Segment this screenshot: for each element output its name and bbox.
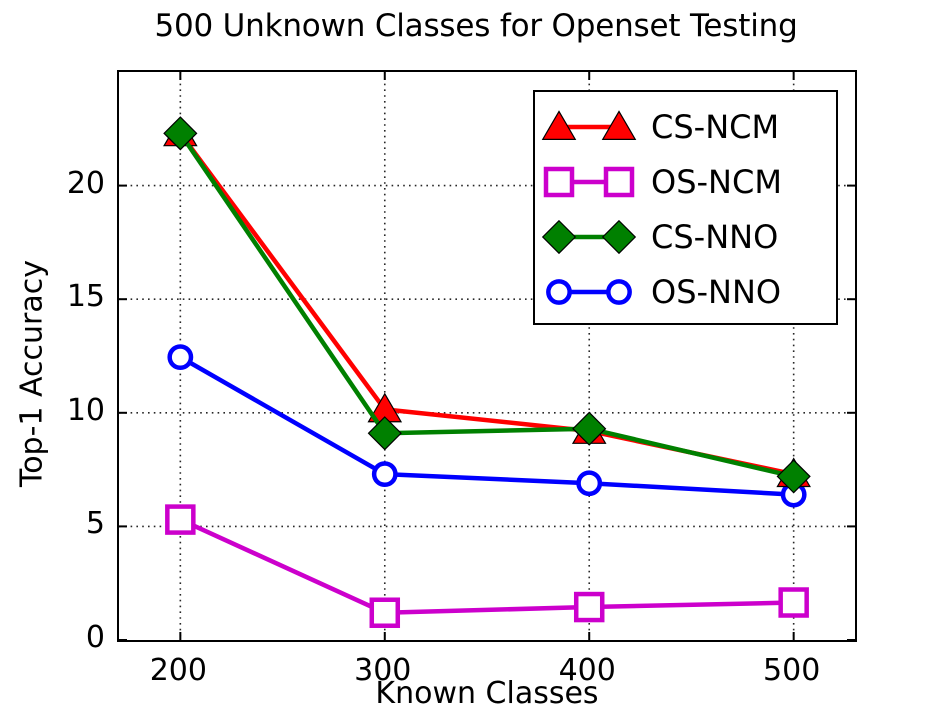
- data-point-marker-square: [576, 594, 602, 620]
- series-os-nno: [170, 346, 805, 505]
- legend-label: CS-NNO: [651, 221, 778, 253]
- data-point-marker-square: [167, 507, 193, 533]
- data-point-marker-square: [606, 169, 632, 195]
- chart-figure: 500 Unknown Classes for Openset Testing …: [0, 0, 952, 714]
- legend-swatch-circle-icon: [535, 265, 643, 319]
- series-line: [180, 520, 793, 613]
- legend-swatch-diamond-icon: [535, 210, 643, 264]
- x-axis-label: Known Classes: [117, 676, 857, 711]
- data-point-marker-circle: [579, 473, 600, 494]
- legend-label: CS-NCM: [651, 111, 779, 143]
- y-tick-label: 0: [5, 623, 105, 653]
- series-line: [180, 357, 793, 494]
- legend-item-os-ncm[interactable]: OS-NCM: [535, 155, 836, 209]
- legend-swatch-square-icon: [535, 155, 643, 209]
- y-axis-label: Top-1 Accuracy: [15, 154, 50, 594]
- chart-legend: CS-NCMOS-NCMCS-NNOOS-NNO: [533, 90, 838, 325]
- legend-item-cs-ncm[interactable]: CS-NCM: [535, 100, 836, 154]
- legend-swatch-triangle-up-icon: [535, 100, 643, 154]
- data-point-marker-circle: [548, 281, 569, 302]
- data-point-marker-diamond: [603, 221, 636, 254]
- data-point-marker-circle: [608, 281, 629, 302]
- data-point-marker-diamond: [543, 221, 576, 254]
- data-point-marker-square: [546, 169, 572, 195]
- legend-label: OS-NNO: [651, 276, 781, 308]
- data-point-marker-square: [372, 600, 398, 626]
- legend-item-os-nno[interactable]: OS-NNO: [535, 265, 836, 319]
- data-point-marker-square: [781, 590, 807, 616]
- data-point-marker-circle: [374, 463, 395, 484]
- legend-label: OS-NCM: [651, 166, 782, 198]
- series-os-ncm: [167, 507, 806, 626]
- data-point-marker-circle: [170, 346, 191, 367]
- data-point-marker-diamond: [777, 460, 810, 493]
- legend-item-cs-nno[interactable]: CS-NNO: [535, 210, 836, 264]
- chart-title: 500 Unknown Classes for Openset Testing: [0, 8, 952, 44]
